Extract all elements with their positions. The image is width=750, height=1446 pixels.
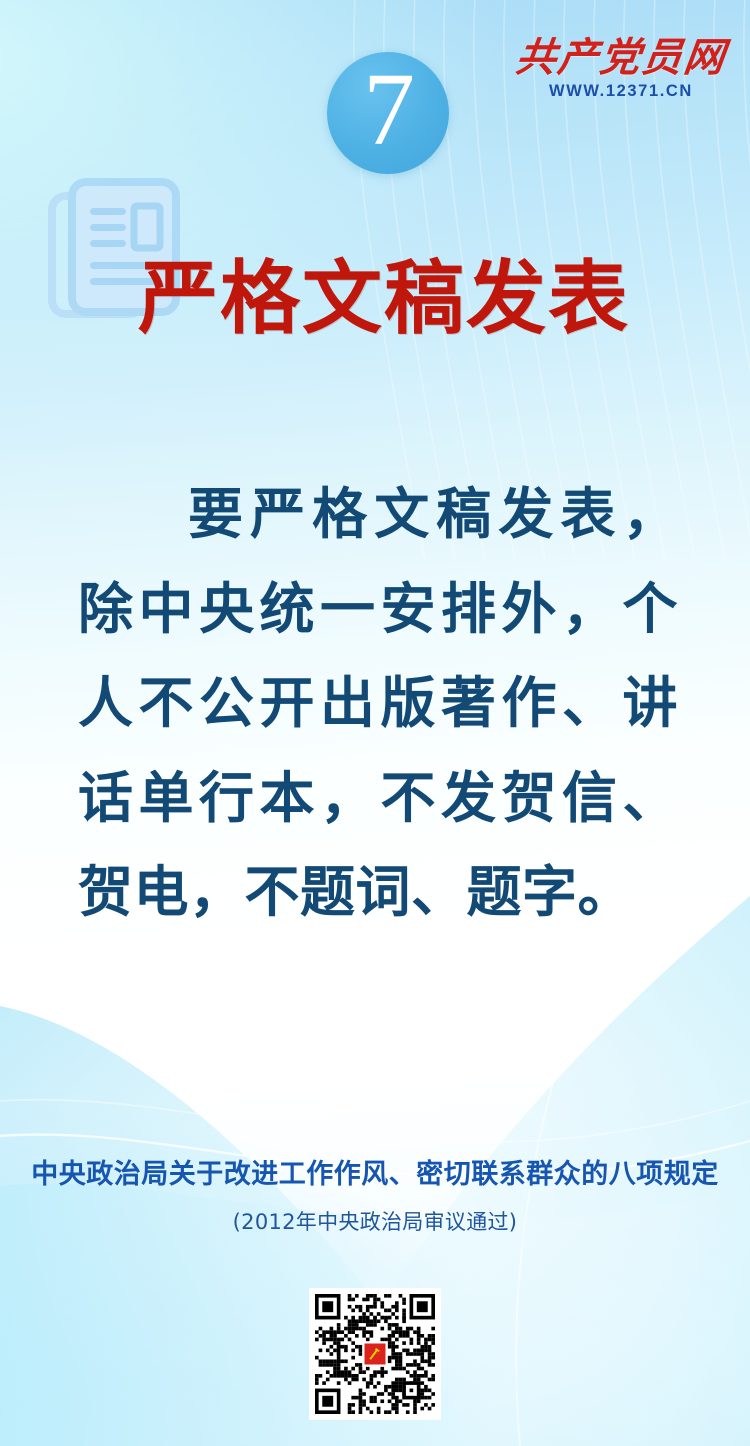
site-logo-url: WWW.12371.CN (516, 83, 726, 100)
site-logo[interactable]: 共产党员网 WWW.12371.CN (516, 38, 726, 112)
qr-code[interactable] (309, 1288, 441, 1420)
poster-canvas: 共产党员网 WWW.12371.CN 7 严格文稿发表 要严格文稿发表，除中央统… (0, 0, 750, 1446)
page-title: 严格文稿发表 (138, 254, 698, 344)
regulation-title: 中央政治局关于改进工作作风、密切联系群众的八项规定 (0, 1152, 750, 1191)
site-logo-text: 共产党员网 (514, 38, 729, 78)
number-badge: 7 (327, 52, 449, 174)
hammer-and-sickle-emblem (364, 1343, 387, 1366)
number-badge-value: 7 (327, 58, 449, 162)
body-paragraph: 要严格文稿发表，除中央统一安排外，个人不公开出版著作、讲话单行本，不发贺信、贺电… (78, 467, 678, 940)
regulation-subtitle: (2012年中央政治局审议通过) (0, 1206, 750, 1236)
